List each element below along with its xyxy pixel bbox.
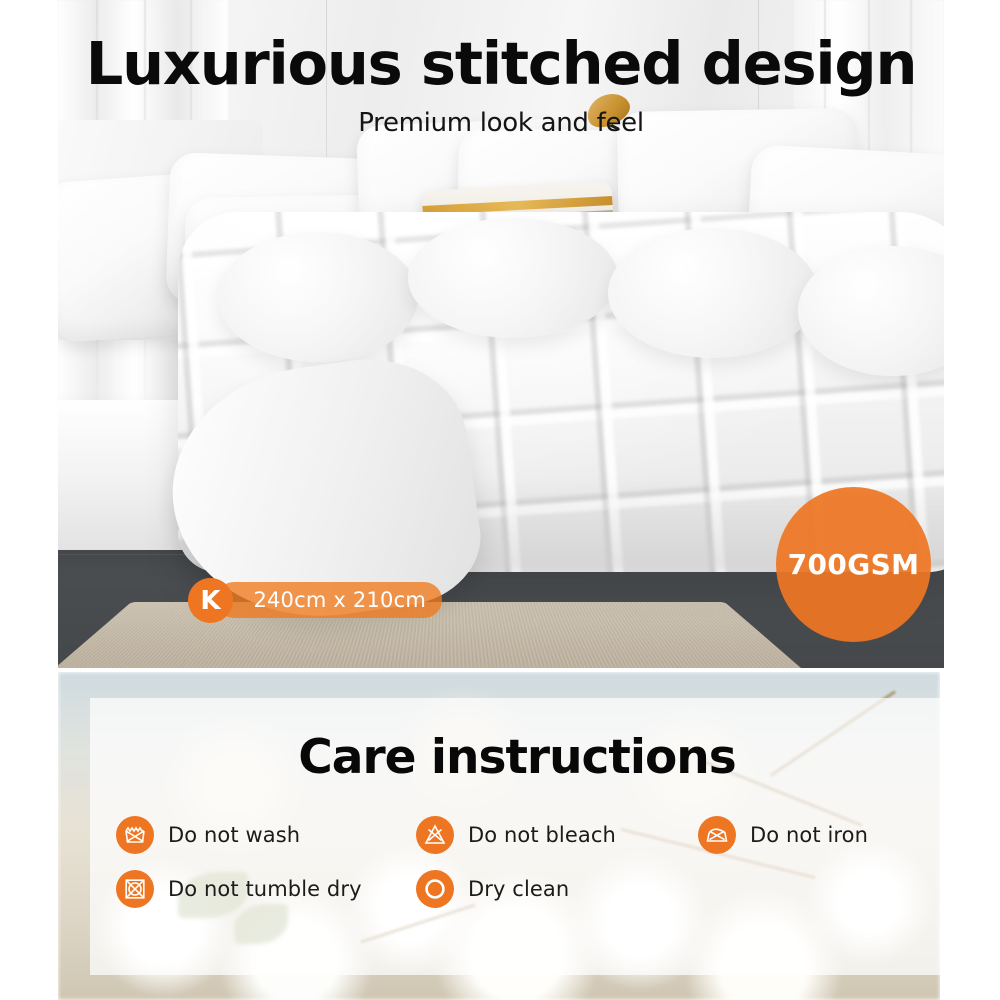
care-item-do-not-wash: Do not wash <box>116 816 416 854</box>
gsm-badge: 700GSM <box>776 487 931 642</box>
dry-clean-icon <box>416 870 454 908</box>
care-row: Do not tumble dry Dry clean <box>116 870 920 908</box>
size-dimensions-pill: 240cm x 210cm <box>216 582 442 618</box>
size-code-label: K <box>200 586 220 616</box>
size-dimensions-label: 240cm x 210cm <box>253 588 426 612</box>
do-not-bleach-icon <box>416 816 454 854</box>
do-not-iron-icon <box>698 816 736 854</box>
do-not-wash-icon <box>116 816 154 854</box>
care-item-dry-clean: Dry clean <box>416 870 698 908</box>
care-items-grid: Do not wash Do not bleach <box>116 816 920 924</box>
product-feature-page: Luxurious stitched design Premium look a… <box>0 0 1000 1000</box>
care-item-label: Do not tumble dry <box>168 877 362 901</box>
page-title: Luxurious stitched design <box>58 34 944 93</box>
care-item-do-not-iron: Do not iron <box>698 816 908 854</box>
care-item-do-not-bleach: Do not bleach <box>416 816 698 854</box>
do-not-tumble-dry-icon <box>116 870 154 908</box>
care-row: Do not wash Do not bleach <box>116 816 920 854</box>
page-subtitle: Premium look and feel <box>58 108 944 138</box>
care-item-do-not-tumble-dry: Do not tumble dry <box>116 870 416 908</box>
care-section-title: Care instructions <box>90 730 940 785</box>
hero-image-panel: Luxurious stitched design Premium look a… <box>58 0 944 668</box>
gsm-value-label: 700GSM <box>788 548 920 581</box>
care-item-label: Do not wash <box>168 823 300 847</box>
care-instructions-panel: Care instructions Do no <box>58 672 940 1000</box>
care-overlay-card: Care instructions Do no <box>90 698 940 975</box>
care-item-label: Do not iron <box>750 823 868 847</box>
care-item-label: Do not bleach <box>468 823 616 847</box>
care-item-label: Dry clean <box>468 877 569 901</box>
size-code-circle: K <box>188 578 233 623</box>
